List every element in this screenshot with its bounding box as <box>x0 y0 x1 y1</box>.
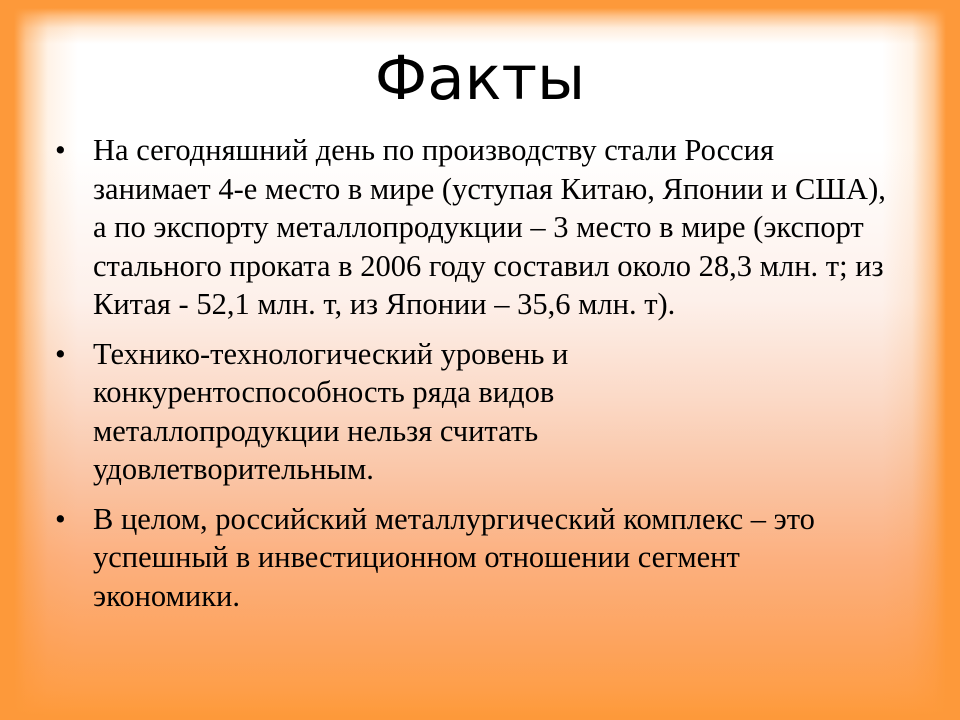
slide-title: Факты <box>0 44 960 114</box>
bullet-list-item: • В целом, российский металлургический к… <box>46 500 833 616</box>
bullet-item-text: Технико-технологический уровень и конкур… <box>93 335 793 489</box>
bullet-point-icon: • <box>55 131 75 170</box>
bullet-point-icon: • <box>55 335 75 374</box>
slide-content: Факты • На сегодняшний день по производс… <box>0 0 960 720</box>
bullet-item-text: В целом, российский металлургический ком… <box>93 500 833 616</box>
bullet-point-icon: • <box>55 500 75 539</box>
bullet-list-item: • Технико-технологический уровень и конк… <box>46 335 793 489</box>
bullet-list: • На сегодняшний день по производству ст… <box>46 131 926 618</box>
bullet-item-text: На сегодняшний день по производству стал… <box>93 131 898 324</box>
presentation-slide: Факты • На сегодняшний день по производс… <box>0 0 960 720</box>
bullet-list-item: • На сегодняшний день по производству ст… <box>46 131 898 324</box>
